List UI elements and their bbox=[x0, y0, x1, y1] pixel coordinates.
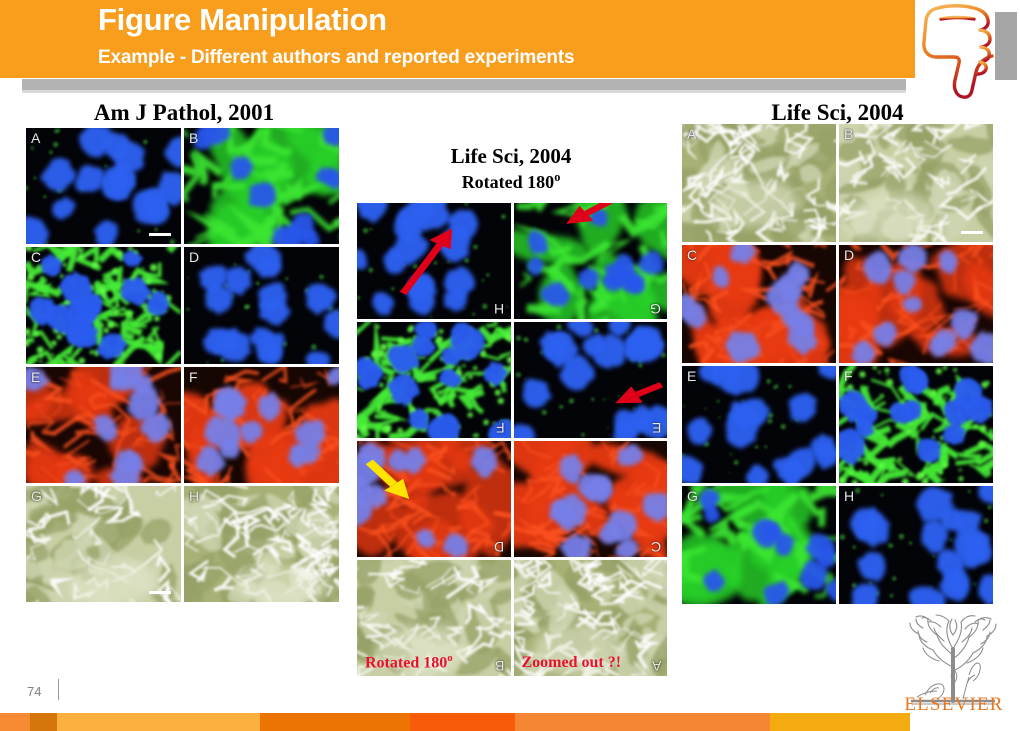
panel-label: F bbox=[189, 369, 198, 385]
micrograph-image bbox=[839, 486, 993, 604]
panel-label: G bbox=[31, 488, 42, 504]
panel-label: C bbox=[31, 249, 41, 265]
panel-label: H bbox=[844, 488, 854, 504]
micrograph-panel-f: F bbox=[357, 322, 511, 438]
column-title-right: Life Sci, 2004 bbox=[680, 100, 995, 126]
micrograph-panel-c: C bbox=[26, 247, 181, 363]
micrograph-image bbox=[682, 366, 836, 484]
micrograph-panel-d: D bbox=[839, 245, 993, 363]
micrograph-panel-d: D bbox=[184, 247, 339, 363]
micrograph-panel-h: H bbox=[357, 203, 511, 319]
panel-label: A bbox=[652, 658, 661, 674]
column-subtitle-middle: Rotated 180o bbox=[355, 170, 667, 193]
header-divider-shadow bbox=[22, 90, 906, 93]
micrograph-panel-g: G bbox=[26, 486, 181, 602]
micrograph-image bbox=[184, 247, 339, 363]
micrograph-panel-h: H bbox=[184, 486, 339, 602]
colorbar-segment-1 bbox=[30, 713, 57, 731]
figure-grid-right: ABCDEFGH bbox=[682, 124, 993, 604]
micrograph-image bbox=[514, 441, 668, 557]
yellow-annotation-arrow bbox=[357, 441, 511, 557]
micrograph-image bbox=[839, 124, 993, 242]
panel-label: D bbox=[189, 249, 199, 265]
micrograph-panel-e: E bbox=[26, 367, 181, 483]
micrograph-panel-a: A bbox=[682, 124, 836, 242]
column-title-left: Am J Pathol, 2001 bbox=[24, 100, 344, 126]
micrograph-panel-b: B bbox=[184, 128, 339, 244]
micrograph-image bbox=[682, 124, 836, 242]
page-subtitle: Example - Different authors and reported… bbox=[98, 47, 574, 69]
micrograph-panel-c: C bbox=[514, 441, 668, 557]
micrograph-panel-e: E bbox=[682, 366, 836, 484]
page-number: 74 bbox=[27, 684, 41, 699]
micrograph-image bbox=[184, 486, 339, 602]
micrograph-panel-f: F bbox=[184, 367, 339, 483]
micrograph-panel-f: F bbox=[839, 366, 993, 484]
micrograph-panel-g: G bbox=[682, 486, 836, 604]
panel-label: F bbox=[496, 420, 505, 436]
thumbs-down-icon bbox=[908, 0, 1004, 102]
panel-label: A bbox=[687, 126, 696, 142]
micrograph-image bbox=[26, 486, 181, 602]
panel-label: B bbox=[189, 130, 198, 146]
scale-bar bbox=[149, 233, 171, 236]
panel-label: F bbox=[844, 368, 853, 384]
micrograph-image bbox=[682, 245, 836, 363]
micrograph-panel-e: E bbox=[514, 322, 668, 438]
manipulation-annotation: Zoomed out ?! bbox=[522, 654, 622, 672]
colorbar-segment-6 bbox=[770, 713, 910, 731]
annotation-text: Rotated 180 bbox=[365, 654, 447, 671]
degree-symbol: o bbox=[554, 170, 560, 184]
red-annotation-arrow bbox=[514, 322, 668, 438]
page-title: Figure Manipulation bbox=[98, 2, 387, 38]
micrograph-panel-a: AZoomed out ?! bbox=[514, 560, 668, 676]
manipulation-annotation: Rotated 180o bbox=[365, 652, 453, 672]
rotation-note-text: Rotated 180 bbox=[462, 172, 555, 192]
micrograph-image bbox=[682, 486, 836, 604]
micrograph-image bbox=[26, 247, 181, 363]
panel-label: D bbox=[844, 247, 854, 263]
red-annotation-arrow bbox=[357, 203, 511, 319]
micrograph-image bbox=[184, 128, 339, 244]
scale-bar bbox=[961, 231, 983, 234]
slide: Figure Manipulation Example - Different … bbox=[0, 0, 1020, 731]
micrograph-image bbox=[26, 128, 181, 244]
micrograph-panel-c: C bbox=[682, 245, 836, 363]
footer-divider bbox=[58, 679, 59, 700]
micrograph-image bbox=[184, 367, 339, 483]
micrograph-image bbox=[839, 366, 993, 484]
figure-grid-left: ABCDEFGH bbox=[26, 128, 339, 602]
header-divider bbox=[22, 79, 906, 90]
colorbar-segment-3 bbox=[260, 713, 410, 731]
micrograph-panel-b: B bbox=[839, 124, 993, 242]
panel-label: A bbox=[31, 130, 40, 146]
scale-bar bbox=[149, 591, 171, 594]
micrograph-panel-h: H bbox=[839, 486, 993, 604]
panel-label: C bbox=[651, 539, 661, 555]
column-title-middle: Life Sci, 2004 bbox=[355, 144, 667, 169]
micrograph-image bbox=[839, 245, 993, 363]
red-annotation-arrow bbox=[514, 203, 668, 319]
colorbar-segment-0 bbox=[0, 713, 30, 731]
colorbar-segment-7 bbox=[910, 713, 1020, 731]
panel-label: B bbox=[495, 658, 504, 674]
micrograph-panel-g: G bbox=[514, 203, 668, 319]
panel-label: B bbox=[844, 126, 853, 142]
degree-symbol: o bbox=[447, 652, 452, 664]
colorbar-segment-5 bbox=[515, 713, 770, 731]
micrograph-image bbox=[357, 322, 511, 438]
panel-label: C bbox=[687, 247, 697, 263]
colorbar-segment-2 bbox=[57, 713, 260, 731]
panel-label: E bbox=[687, 368, 696, 384]
panel-label: H bbox=[189, 488, 199, 504]
micrograph-panel-d: D bbox=[357, 441, 511, 557]
panel-label: E bbox=[31, 369, 40, 385]
footer-colorbar bbox=[0, 713, 1020, 731]
colorbar-segment-4 bbox=[410, 713, 515, 731]
micrograph-panel-a: A bbox=[26, 128, 181, 244]
micrograph-image bbox=[26, 367, 181, 483]
figure-grid-middle: HGFEDCBRotated 180oAZoomed out ?! bbox=[357, 203, 667, 676]
micrograph-panel-b: BRotated 180o bbox=[357, 560, 511, 676]
panel-label: G bbox=[687, 488, 698, 504]
